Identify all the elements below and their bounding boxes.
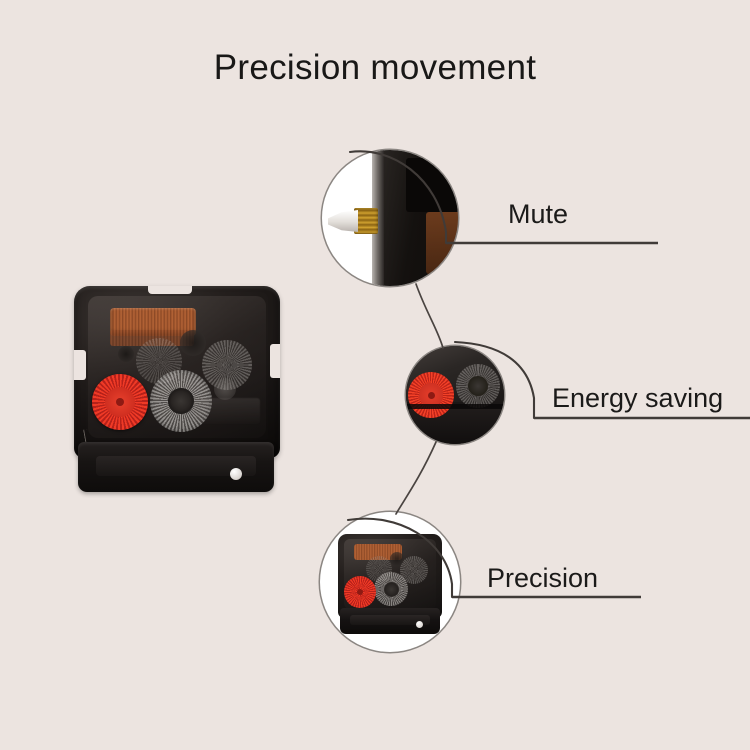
energy-housing-seam (406, 404, 504, 409)
precision-red-gear (344, 576, 376, 608)
gear-small-dark-center (180, 330, 206, 356)
infographic-canvas: Precision movement (0, 0, 750, 750)
connector-energy-to-precision (396, 442, 436, 514)
red-gear-hub (116, 398, 124, 406)
red-setting-gear (92, 374, 148, 430)
body-top-tab (148, 286, 192, 294)
red-gear-closeup-hub (428, 392, 435, 399)
callout-label-precision: Precision (487, 562, 598, 594)
precision-gear-small (390, 552, 404, 566)
white-plastic-tip (328, 210, 358, 232)
movement-imprint (194, 398, 260, 424)
precision-movement-body (338, 534, 442, 618)
gear-gray-closeup (456, 364, 500, 408)
precision-base-dot (416, 621, 423, 628)
shaft-inner-cavity (406, 158, 458, 212)
body-right-notch (270, 344, 280, 378)
red-gear-closeup (408, 372, 454, 418)
product-main-image (66, 282, 288, 498)
movement-body (74, 286, 280, 458)
gear-small-right (214, 378, 236, 400)
callout-circle-precision (320, 512, 460, 652)
callout-label-mute: Mute (508, 198, 568, 230)
body-left-notch (74, 350, 86, 380)
precision-gear-main (374, 572, 408, 606)
gear-small-dark-left (118, 346, 134, 362)
connector-mute-to-energy (416, 284, 443, 348)
precision-red-gear-hub (357, 589, 363, 595)
shaft-copper-hint (426, 212, 458, 274)
callout-circle-energy-saving (406, 346, 504, 444)
page-title: Precision movement (0, 47, 750, 89)
movement-base (78, 442, 274, 492)
base-indicator-dot (230, 468, 242, 480)
callout-circle-mute (322, 150, 458, 286)
callout-label-energy-saving: Energy saving (552, 382, 723, 414)
precision-base (340, 608, 440, 634)
